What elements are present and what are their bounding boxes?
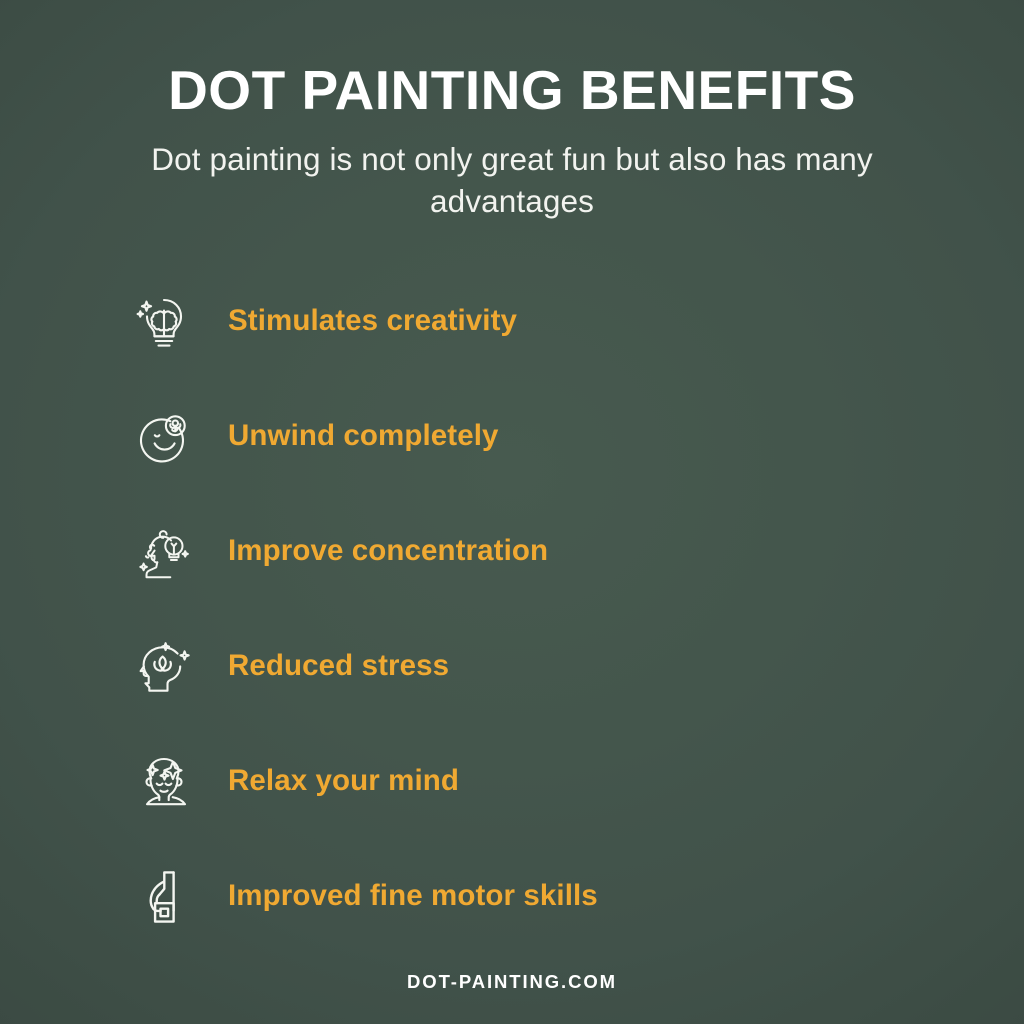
list-item: Reduced stress [0, 609, 1024, 724]
head-lotus-sparkle-icon [131, 627, 197, 707]
website-url[interactable]: DOT-PAINTING.COM [407, 971, 617, 992]
list-item: Relax your mind [0, 724, 1024, 839]
brain-lightbulb-sparkle-icon [131, 282, 197, 362]
page-title: DOT PAINTING BENEFITS [0, 62, 1024, 119]
poster-header: DOT PAINTING BENEFITS Dot painting is no… [0, 0, 1024, 222]
benefit-label: Unwind completely [228, 420, 499, 452]
benefit-label: Stimulates creativity [228, 305, 517, 337]
infographic-poster: DOT PAINTING BENEFITS Dot painting is no… [0, 0, 1024, 1024]
benefit-label: Improve concentration [228, 535, 548, 567]
page-subtitle: Dot painting is not only great fun but a… [147, 139, 877, 222]
relaxed-face-stars-icon [131, 742, 197, 822]
benefit-label: Relax your mind [228, 765, 459, 797]
benefits-list: Stimulates creativity Unwind completely [0, 264, 1024, 954]
head-profile-lightbulb-icon [131, 512, 197, 592]
benefit-label: Reduced stress [228, 650, 449, 682]
list-item: Stimulates creativity [0, 264, 1024, 379]
poster-footer: DOT-PAINTING.COM [0, 971, 1024, 993]
hand-pinch-grip-icon [131, 857, 197, 937]
list-item: Improve concentration [0, 494, 1024, 609]
smiling-face-flower-icon [131, 397, 197, 477]
list-item: Improved fine motor skills [0, 839, 1024, 954]
list-item: Unwind completely [0, 379, 1024, 494]
benefit-label: Improved fine motor skills [228, 880, 598, 912]
